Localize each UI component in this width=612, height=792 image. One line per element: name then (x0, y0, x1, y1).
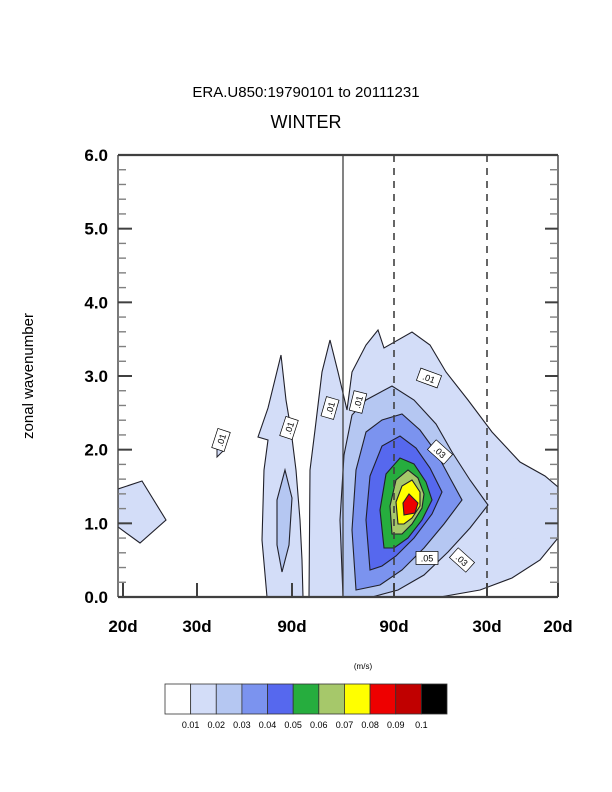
y-tick-label: 6.0 (84, 146, 108, 165)
x-tick-label: 30d (472, 617, 501, 636)
x-tick-label: 90d (379, 617, 408, 636)
colorbar-swatch[interactable] (165, 684, 191, 714)
figure-title-line1: ERA.U850:19790101 to 20111231 (192, 84, 419, 101)
colorbar-swatch[interactable] (344, 684, 370, 714)
x-tick-label: 90d (277, 617, 306, 636)
colorbar-tick-label: 0.01 (182, 720, 200, 730)
colorbar-tick-label: 0.09 (387, 720, 405, 730)
x-tick-label: 30d (182, 617, 211, 636)
colorbar-tick-label: 0.04 (259, 720, 277, 730)
colorbar-tick-label: 0.1 (415, 720, 428, 730)
colorbar-tick-label: 0.07 (336, 720, 354, 730)
y-tick-label: 3.0 (84, 367, 108, 386)
colorbar-swatch[interactable] (396, 684, 422, 714)
colorbar-tick-label: 0.03 (233, 720, 251, 730)
colorbar-tick-label: 0.02 (208, 720, 226, 730)
colorbar-swatch[interactable] (370, 684, 396, 714)
colorbar-swatch[interactable] (242, 684, 268, 714)
x-tick-label: 20d (108, 617, 137, 636)
figure-title-line2: WINTER (271, 112, 342, 132)
y-tick-label: 0.0 (84, 588, 108, 607)
colorbar-swatch[interactable] (421, 684, 447, 714)
colorbar-swatch[interactable] (293, 684, 319, 714)
colorbar-tick-label: 0.08 (361, 720, 379, 730)
colorbar-tick-label: 0.05 (284, 720, 302, 730)
y-tick-label: 5.0 (84, 220, 108, 239)
colorbar-swatch[interactable] (191, 684, 217, 714)
colorbar-swatch[interactable] (216, 684, 242, 714)
y-tick-label: 1.0 (84, 514, 108, 533)
y-axis-label: zonal wavenumber (20, 313, 37, 439)
y-tick-label: 4.0 (84, 293, 108, 312)
y-tick-label: 2.0 (84, 441, 108, 460)
contour-figure: ERA.U850:19790101 to 20111231 WINTER zon… (0, 0, 612, 792)
contour-label-east-f: .05 (421, 554, 434, 564)
x-tick-label: 20d (543, 617, 572, 636)
colorbar-swatch[interactable] (319, 684, 345, 714)
colorbar-tick-label: 0.06 (310, 720, 328, 730)
colorbar-swatch[interactable] (268, 684, 294, 714)
colorbar-unit-label: (m/s) (354, 662, 373, 671)
